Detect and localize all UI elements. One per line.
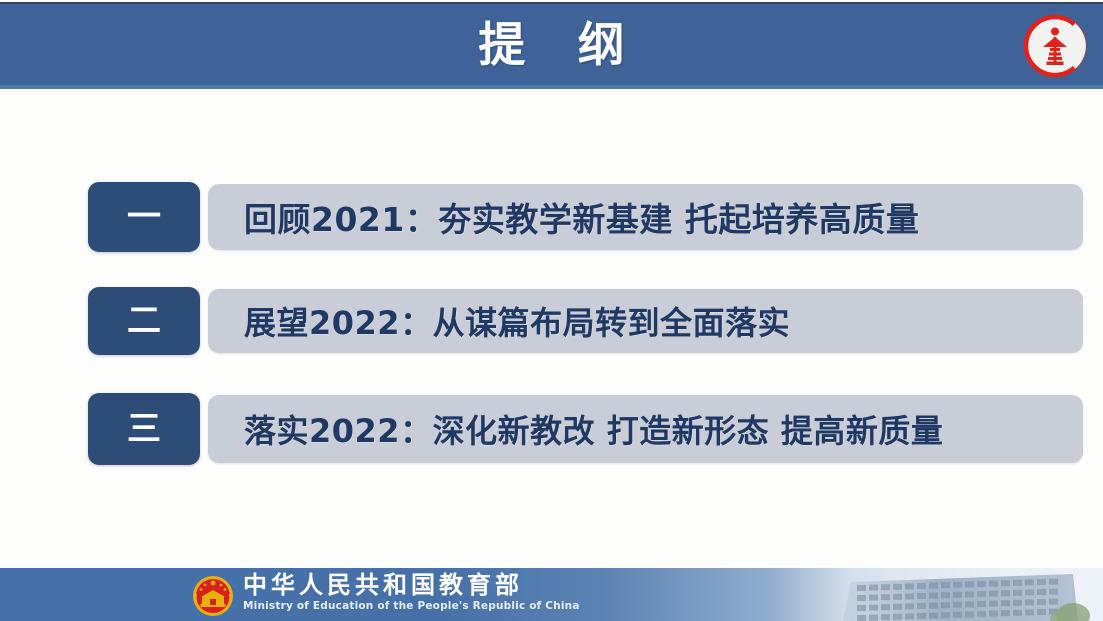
- bit-university-logo: [1021, 12, 1089, 80]
- slide-header: 提 纲: [0, 2, 1103, 85]
- header-underline: [0, 85, 1103, 89]
- outline-text-three: 落实2022：深化新教改 打造新形态 提高新质量: [208, 406, 943, 452]
- page-title: 提 纲: [0, 4, 1103, 87]
- footer-organization: 中华人民共和国教育部 Ministry of Education of the …: [243, 571, 663, 613]
- slide-footer: 中华人民共和国教育部 Ministry of Education of the …: [0, 568, 1103, 621]
- outline-bar-three[interactable]: 落实2022：深化新教改 打造新形态 提高新质量: [208, 395, 1083, 463]
- two-bars-icon: 二: [127, 304, 161, 338]
- list-item[interactable]: 一 回顾2021：夯实教学新基建 托起培养高质量: [88, 182, 1083, 252]
- slide-root: 提 纲 一: [0, 0, 1103, 621]
- list-item[interactable]: 三 落实2022：深化新教改 打造新形态 提高新质量: [88, 393, 1083, 465]
- outline-list: 一 回顾2021：夯实教学新基建 托起培养高质量 二 展望2022：从谋篇布局转…: [0, 0, 1103, 621]
- one-bar-icon: 一: [127, 200, 161, 234]
- outline-bar-one[interactable]: 回顾2021：夯实教学新基建 托起培养高质量: [208, 184, 1083, 250]
- footer-organization-en: Ministry of Education of the People's Re…: [243, 599, 663, 613]
- outline-badge-one[interactable]: 一: [88, 182, 200, 252]
- list-item[interactable]: 二 展望2022：从谋篇布局转到全面落实: [88, 287, 1083, 355]
- ministry-building-photo: [773, 568, 1103, 621]
- footer-organization-cn: 中华人民共和国教育部: [243, 571, 663, 599]
- outline-badge-three[interactable]: 三: [88, 393, 200, 465]
- china-national-emblem: [190, 572, 236, 618]
- outline-text-one: 回顾2021：夯实教学新基建 托起培养高质量: [208, 193, 919, 241]
- three-bars-icon: 三: [127, 412, 161, 446]
- outline-badge-two[interactable]: 二: [88, 287, 200, 355]
- outline-bar-two[interactable]: 展望2022：从谋篇布局转到全面落实: [208, 289, 1083, 353]
- outline-text-two: 展望2022：从谋篇布局转到全面落实: [208, 298, 790, 344]
